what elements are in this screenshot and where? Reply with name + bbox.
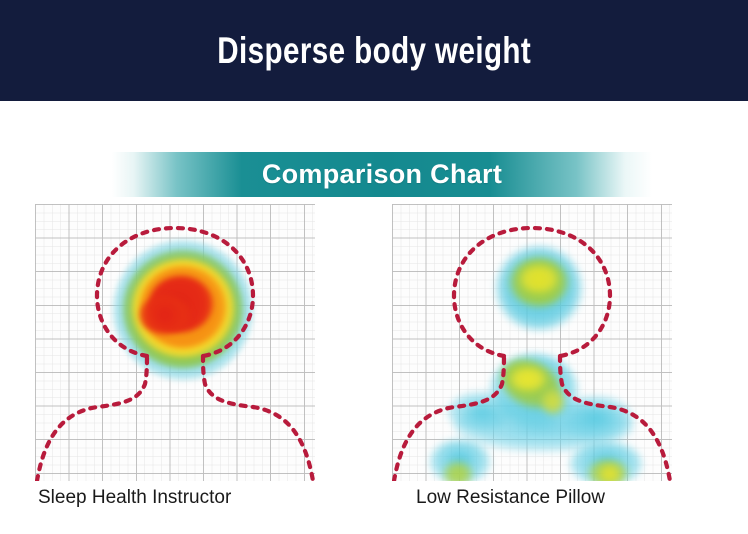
caption-right: Low Resistance Pillow xyxy=(416,487,605,509)
page-root: Disperse body weight Comparison Chart xyxy=(0,0,748,534)
comparison-chart-title: Comparison Chart xyxy=(262,159,502,190)
heatmap-panels xyxy=(0,204,748,482)
body-silhouette-right-icon xyxy=(392,204,672,481)
heatmap-panel-right xyxy=(392,204,672,481)
caption-left: Sleep Health Instructor xyxy=(38,487,231,509)
comparison-chart-banner: Comparison Chart xyxy=(112,152,652,197)
body-silhouette-left-icon xyxy=(35,204,315,481)
heatmap-panel-left xyxy=(35,204,315,481)
page-title: Disperse body weight xyxy=(217,32,531,69)
header-banner: Disperse body weight xyxy=(0,0,748,101)
panel-captions: Sleep Health Instructor Low Resistance P… xyxy=(0,487,748,527)
